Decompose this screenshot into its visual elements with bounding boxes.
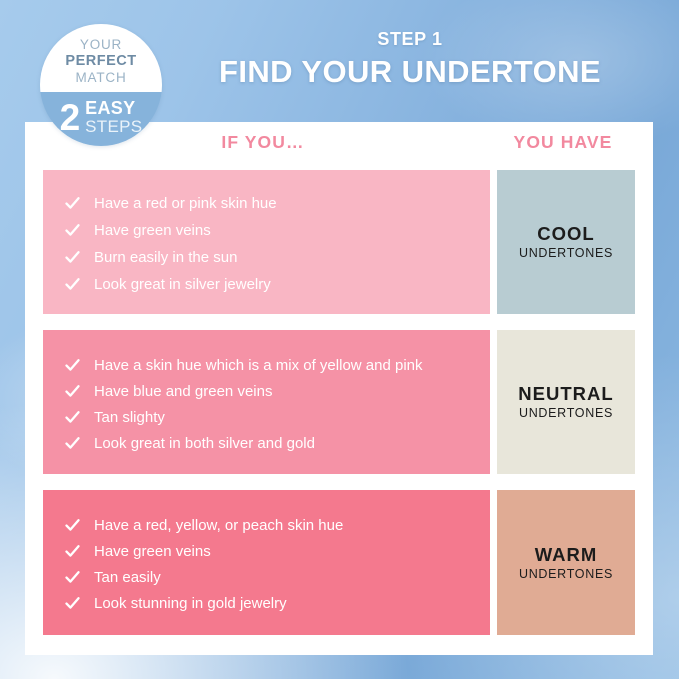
trait-label: Have green veins [94,221,472,240]
trait-item: Look great in silver jewelry [65,275,472,294]
trait-label: Tan easily [94,568,472,587]
check-icon [65,196,80,211]
trait-label: Have a skin hue which is a mix of yellow… [94,356,472,375]
check-icon [65,410,80,425]
column-header-you-have: YOU HAVE [483,132,643,153]
undertone-infographic: YOUR PERFECT MATCH 2 EASY STEPS STEP 1 F… [0,0,679,679]
trait-label: Have blue and green veins [94,382,472,401]
trait-label: Have green veins [94,542,472,561]
traits-list-cool: Have a red or pink skin hue Have green v… [43,170,490,314]
trait-item: Have green veins [65,221,472,240]
trait-item: Look great in both silver and gold [65,434,472,453]
check-icon [65,277,80,292]
undertone-swatch-cool: COOL UNDERTONES [497,170,635,314]
badge-word-steps: STEPS [85,118,142,136]
badge-step-words: EASY STEPS [85,99,142,136]
undertone-row-warm: Have a red, yellow, or peach skin hue Ha… [43,490,635,635]
trait-label: Tan slighty [94,408,472,427]
traits-list-neutral: Have a skin hue which is a mix of yellow… [43,330,490,474]
trait-item: Have blue and green veins [65,382,472,401]
badge-line-match: MATCH [76,70,127,86]
trait-label: Look stunning in gold jewelry [94,594,472,613]
trait-item: Have a red, yellow, or peach skin hue [65,516,472,535]
trait-item: Tan easily [65,568,472,587]
check-icon [65,518,80,533]
badge-bottom-half: 2 EASY STEPS [40,92,162,146]
poster-header: STEP 1 FIND YOUR UNDERTONE [175,28,645,91]
swatch-name: WARM [535,544,598,566]
badge-top-half: YOUR PERFECT MATCH [40,24,162,92]
badge-step-count: 2 [60,99,81,136]
check-icon [65,544,80,559]
trait-item: Burn easily in the sun [65,248,472,267]
perfect-match-badge: YOUR PERFECT MATCH 2 EASY STEPS [40,24,162,146]
trait-item: Look stunning in gold jewelry [65,594,472,613]
check-icon [65,436,80,451]
traits-list-warm: Have a red, yellow, or peach skin hue Ha… [43,490,490,635]
badge-word-easy: EASY [85,99,142,118]
undertone-row-cool: Have a red or pink skin hue Have green v… [43,170,635,314]
content-card: IF YOU… YOU HAVE Have a red or pink skin… [25,122,653,655]
trait-label: Look great in silver jewelry [94,275,472,294]
trait-label: Burn easily in the sun [94,248,472,267]
undertone-row-neutral: Have a skin hue which is a mix of yellow… [43,330,635,474]
check-icon [65,358,80,373]
check-icon [65,384,80,399]
trait-label: Look great in both silver and gold [94,434,472,453]
check-icon [65,596,80,611]
badge-line-perfect: PERFECT [65,53,136,70]
trait-label: Have a red or pink skin hue [94,194,472,213]
undertone-swatch-warm: WARM UNDERTONES [497,490,635,635]
trait-label: Have a red, yellow, or peach skin hue [94,516,472,535]
undertone-swatch-neutral: NEUTRAL UNDERTONES [497,330,635,474]
trait-item: Tan slighty [65,408,472,427]
badge-line-your: YOUR [80,37,122,53]
swatch-subtitle: UNDERTONES [519,246,613,261]
trait-item: Have green veins [65,542,472,561]
check-icon [65,570,80,585]
check-icon [65,250,80,265]
swatch-name: COOL [537,223,594,245]
trait-item: Have a red or pink skin hue [65,194,472,213]
page-title: FIND YOUR UNDERTONE [175,53,645,91]
swatch-subtitle: UNDERTONES [519,406,613,421]
check-icon [65,223,80,238]
swatch-subtitle: UNDERTONES [519,567,613,582]
step-label: STEP 1 [175,28,645,50]
trait-item: Have a skin hue which is a mix of yellow… [65,356,472,375]
swatch-name: NEUTRAL [518,383,613,405]
